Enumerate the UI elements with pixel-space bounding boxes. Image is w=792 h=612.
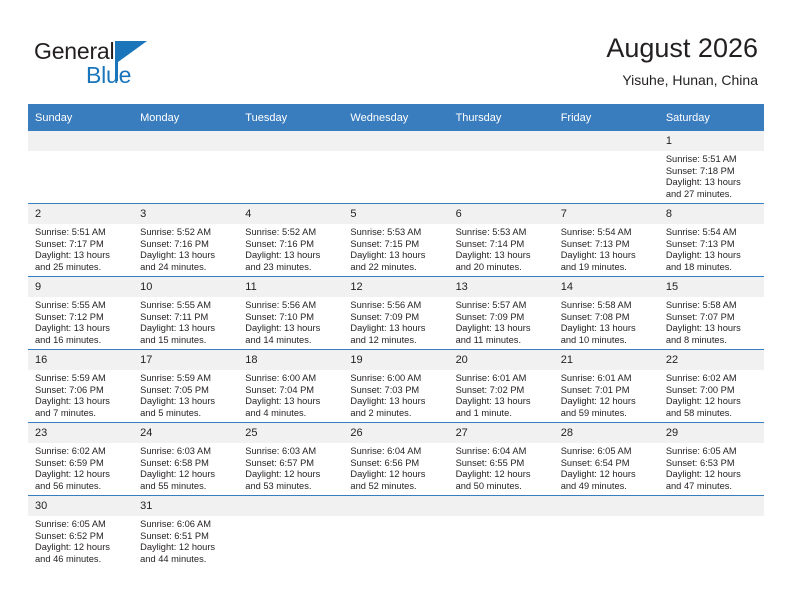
day-number xyxy=(554,131,659,151)
day-details: Sunrise: 5:58 AMSunset: 7:07 PMDaylight:… xyxy=(659,297,764,346)
day-cell[interactable] xyxy=(449,496,554,569)
daylight-duration-line1: Daylight: 13 hours xyxy=(666,250,759,262)
day-details: Sunrise: 5:54 AMSunset: 7:13 PMDaylight:… xyxy=(554,224,659,273)
sunset-time: Sunset: 7:09 PM xyxy=(350,312,443,324)
day-details xyxy=(554,151,659,154)
day-details: Sunrise: 5:52 AMSunset: 7:16 PMDaylight:… xyxy=(133,224,238,273)
daylight-duration-line2: and 15 minutes. xyxy=(140,335,233,347)
day-number xyxy=(238,131,343,151)
daylight-duration-line1: Daylight: 12 hours xyxy=(561,469,654,481)
day-number xyxy=(449,496,554,516)
daylight-duration-line1: Daylight: 13 hours xyxy=(456,396,549,408)
page-subtitle-location: Yisuhe, Hunan, China xyxy=(606,70,758,90)
day-cell[interactable]: 20Sunrise: 6:01 AMSunset: 7:02 PMDayligh… xyxy=(449,350,554,423)
daylight-duration-line2: and 19 minutes. xyxy=(561,262,654,274)
day-details: Sunrise: 6:00 AMSunset: 7:03 PMDaylight:… xyxy=(343,370,448,419)
sunrise-time: Sunrise: 6:00 AM xyxy=(245,373,338,385)
sunset-time: Sunset: 6:58 PM xyxy=(140,458,233,470)
day-details xyxy=(449,516,554,519)
sunset-time: Sunset: 7:16 PM xyxy=(245,239,338,251)
day-details xyxy=(449,151,554,154)
sunset-time: Sunset: 7:13 PM xyxy=(561,239,654,251)
daylight-duration-line1: Daylight: 13 hours xyxy=(140,250,233,262)
day-number: 10 xyxy=(133,277,238,297)
calendar-week-row: 16Sunrise: 5:59 AMSunset: 7:06 PMDayligh… xyxy=(28,350,764,423)
sunrise-time: Sunrise: 6:01 AM xyxy=(456,373,549,385)
day-number xyxy=(659,496,764,516)
day-cell[interactable] xyxy=(343,131,448,204)
day-number: 29 xyxy=(659,423,764,443)
day-details xyxy=(554,516,659,519)
day-number: 7 xyxy=(554,204,659,224)
day-number: 4 xyxy=(238,204,343,224)
day-number: 27 xyxy=(449,423,554,443)
daylight-duration-line1: Daylight: 13 hours xyxy=(35,396,128,408)
daylight-duration-line2: and 10 minutes. xyxy=(561,335,654,347)
day-number: 14 xyxy=(554,277,659,297)
day-details: Sunrise: 5:53 AMSunset: 7:15 PMDaylight:… xyxy=(343,224,448,273)
sunset-time: Sunset: 7:02 PM xyxy=(456,385,549,397)
day-number: 28 xyxy=(554,423,659,443)
sunrise-time: Sunrise: 5:58 AM xyxy=(561,300,654,312)
sunset-time: Sunset: 6:57 PM xyxy=(245,458,338,470)
sunset-time: Sunset: 7:11 PM xyxy=(140,312,233,324)
day-details: Sunrise: 5:56 AMSunset: 7:10 PMDaylight:… xyxy=(238,297,343,346)
daylight-duration-line1: Daylight: 12 hours xyxy=(35,542,128,554)
day-details: Sunrise: 6:04 AMSunset: 6:56 PMDaylight:… xyxy=(343,443,448,492)
day-cell[interactable]: 19Sunrise: 6:00 AMSunset: 7:03 PMDayligh… xyxy=(343,350,448,423)
sunset-time: Sunset: 6:52 PM xyxy=(35,531,128,543)
day-number: 23 xyxy=(28,423,133,443)
daylight-duration-line2: and 50 minutes. xyxy=(456,481,549,493)
sunset-time: Sunset: 7:08 PM xyxy=(561,312,654,324)
sunrise-time: Sunrise: 5:51 AM xyxy=(666,154,759,166)
day-number: 3 xyxy=(133,204,238,224)
calendar-week-row: 23Sunrise: 6:02 AMSunset: 6:59 PMDayligh… xyxy=(28,423,764,496)
daylight-duration-line2: and 14 minutes. xyxy=(245,335,338,347)
day-cell[interactable]: 14Sunrise: 5:58 AMSunset: 7:08 PMDayligh… xyxy=(554,277,659,350)
daylight-duration-line1: Daylight: 13 hours xyxy=(245,396,338,408)
sunset-time: Sunset: 7:07 PM xyxy=(666,312,759,324)
day-cell[interactable] xyxy=(554,496,659,569)
day-number xyxy=(238,496,343,516)
sunrise-time: Sunrise: 5:52 AM xyxy=(140,227,233,239)
day-number xyxy=(343,496,448,516)
day-cell[interactable]: 21Sunrise: 6:01 AMSunset: 7:01 PMDayligh… xyxy=(554,350,659,423)
sunrise-time: Sunrise: 6:03 AM xyxy=(245,446,338,458)
sunset-time: Sunset: 7:06 PM xyxy=(35,385,128,397)
daylight-duration-line2: and 20 minutes. xyxy=(456,262,549,274)
daylight-duration-line1: Daylight: 13 hours xyxy=(350,396,443,408)
daylight-duration-line2: and 11 minutes. xyxy=(456,335,549,347)
day-cell[interactable]: 27Sunrise: 6:04 AMSunset: 6:55 PMDayligh… xyxy=(449,423,554,496)
sunrise-time: Sunrise: 5:53 AM xyxy=(350,227,443,239)
day-cell[interactable] xyxy=(449,131,554,204)
day-details: Sunrise: 5:53 AMSunset: 7:14 PMDaylight:… xyxy=(449,224,554,273)
day-cell[interactable]: 12Sunrise: 5:56 AMSunset: 7:09 PMDayligh… xyxy=(343,277,448,350)
day-number: 1 xyxy=(659,131,764,151)
day-details: Sunrise: 6:03 AMSunset: 6:58 PMDaylight:… xyxy=(133,443,238,492)
day-cell[interactable] xyxy=(554,131,659,204)
logo-triangle-icon xyxy=(118,41,147,62)
general-blue-logo[interactable]: General Blue xyxy=(34,38,224,92)
day-cell[interactable]: 29Sunrise: 6:05 AMSunset: 6:53 PMDayligh… xyxy=(659,423,764,496)
sunset-time: Sunset: 7:03 PM xyxy=(350,385,443,397)
day-cell[interactable]: 17Sunrise: 5:59 AMSunset: 7:05 PMDayligh… xyxy=(133,350,238,423)
day-details: Sunrise: 5:56 AMSunset: 7:09 PMDaylight:… xyxy=(343,297,448,346)
daylight-duration-line2: and 56 minutes. xyxy=(35,481,128,493)
day-number: 8 xyxy=(659,204,764,224)
weekday-header-tuesday: Tuesday xyxy=(238,104,343,131)
calendar-week-row: 1Sunrise: 5:51 AMSunset: 7:18 PMDaylight… xyxy=(28,131,764,204)
calendar-week-row: 30Sunrise: 6:05 AMSunset: 6:52 PMDayligh… xyxy=(28,496,764,569)
day-details: Sunrise: 5:59 AMSunset: 7:06 PMDaylight:… xyxy=(28,370,133,419)
day-cell[interactable]: 4Sunrise: 5:52 AMSunset: 7:16 PMDaylight… xyxy=(238,204,343,277)
day-details: Sunrise: 6:05 AMSunset: 6:52 PMDaylight:… xyxy=(28,516,133,565)
title-block: August 2026 Yisuhe, Hunan, China xyxy=(606,32,758,90)
sunset-time: Sunset: 7:09 PM xyxy=(456,312,549,324)
day-cell[interactable]: 16Sunrise: 5:59 AMSunset: 7:06 PMDayligh… xyxy=(28,350,133,423)
day-details xyxy=(238,151,343,154)
day-cell[interactable]: 2Sunrise: 5:51 AMSunset: 7:17 PMDaylight… xyxy=(28,204,133,277)
daylight-duration-line2: and 23 minutes. xyxy=(245,262,338,274)
day-number: 19 xyxy=(343,350,448,370)
day-details: Sunrise: 6:04 AMSunset: 6:55 PMDaylight:… xyxy=(449,443,554,492)
day-cell[interactable]: 18Sunrise: 6:00 AMSunset: 7:04 PMDayligh… xyxy=(238,350,343,423)
day-cell[interactable] xyxy=(28,131,133,204)
day-details: Sunrise: 5:58 AMSunset: 7:08 PMDaylight:… xyxy=(554,297,659,346)
daylight-duration-line1: Daylight: 13 hours xyxy=(456,250,549,262)
day-details: Sunrise: 6:05 AMSunset: 6:54 PMDaylight:… xyxy=(554,443,659,492)
daylight-duration-line1: Daylight: 12 hours xyxy=(561,396,654,408)
daylight-duration-line1: Daylight: 13 hours xyxy=(350,323,443,335)
day-cell[interactable] xyxy=(133,131,238,204)
day-cell[interactable] xyxy=(238,496,343,569)
sunrise-time: Sunrise: 5:55 AM xyxy=(35,300,128,312)
page-header: General Blue August 2026 Yisuhe, Hunan, … xyxy=(0,0,792,100)
day-number: 30 xyxy=(28,496,133,516)
sunset-time: Sunset: 7:01 PM xyxy=(561,385,654,397)
day-cell[interactable]: 3Sunrise: 5:52 AMSunset: 7:16 PMDaylight… xyxy=(133,204,238,277)
sunset-time: Sunset: 7:12 PM xyxy=(35,312,128,324)
day-cell[interactable]: 26Sunrise: 6:04 AMSunset: 6:56 PMDayligh… xyxy=(343,423,448,496)
day-cell[interactable]: 24Sunrise: 6:03 AMSunset: 6:58 PMDayligh… xyxy=(133,423,238,496)
day-cell[interactable]: 28Sunrise: 6:05 AMSunset: 6:54 PMDayligh… xyxy=(554,423,659,496)
sunset-time: Sunset: 6:55 PM xyxy=(456,458,549,470)
sunrise-time: Sunrise: 5:51 AM xyxy=(35,227,128,239)
sunrise-time: Sunrise: 5:59 AM xyxy=(35,373,128,385)
weekday-header-saturday: Saturday xyxy=(659,104,764,131)
sunrise-time: Sunrise: 5:52 AM xyxy=(245,227,338,239)
sunrise-time: Sunrise: 5:54 AM xyxy=(561,227,654,239)
day-number: 5 xyxy=(343,204,448,224)
sunrise-time: Sunrise: 6:05 AM xyxy=(35,519,128,531)
sunset-time: Sunset: 6:53 PM xyxy=(666,458,759,470)
daylight-duration-line1: Daylight: 13 hours xyxy=(245,250,338,262)
day-number xyxy=(28,131,133,151)
sunrise-time: Sunrise: 5:53 AM xyxy=(456,227,549,239)
day-number: 6 xyxy=(449,204,554,224)
day-details xyxy=(238,516,343,519)
sunrise-time: Sunrise: 5:55 AM xyxy=(140,300,233,312)
day-details: Sunrise: 5:54 AMSunset: 7:13 PMDaylight:… xyxy=(659,224,764,273)
sunset-time: Sunset: 6:54 PM xyxy=(561,458,654,470)
day-cell[interactable]: 9Sunrise: 5:55 AMSunset: 7:12 PMDaylight… xyxy=(28,277,133,350)
day-number: 31 xyxy=(133,496,238,516)
day-number: 22 xyxy=(659,350,764,370)
daylight-duration-line2: and 7 minutes. xyxy=(35,408,128,420)
daylight-duration-line1: Daylight: 13 hours xyxy=(666,323,759,335)
day-details: Sunrise: 6:01 AMSunset: 7:02 PMDaylight:… xyxy=(449,370,554,419)
daylight-duration-line2: and 59 minutes. xyxy=(561,408,654,420)
daylight-duration-line2: and 58 minutes. xyxy=(666,408,759,420)
logo-text-general: General xyxy=(34,38,114,64)
daylight-duration-line1: Daylight: 12 hours xyxy=(245,469,338,481)
day-cell[interactable]: 8Sunrise: 5:54 AMSunset: 7:13 PMDaylight… xyxy=(659,204,764,277)
sunrise-time: Sunrise: 6:02 AM xyxy=(666,373,759,385)
calendar-header-row-group: Sunday Monday Tuesday Wednesday Thursday… xyxy=(28,104,764,131)
sunrise-time: Sunrise: 6:00 AM xyxy=(350,373,443,385)
sunset-time: Sunset: 7:00 PM xyxy=(666,385,759,397)
day-details: Sunrise: 5:57 AMSunset: 7:09 PMDaylight:… xyxy=(449,297,554,346)
day-details: Sunrise: 6:05 AMSunset: 6:53 PMDaylight:… xyxy=(659,443,764,492)
sunrise-time: Sunrise: 6:01 AM xyxy=(561,373,654,385)
sunrise-time: Sunrise: 5:56 AM xyxy=(245,300,338,312)
day-number: 2 xyxy=(28,204,133,224)
daylight-duration-line2: and 55 minutes. xyxy=(140,481,233,493)
day-details: Sunrise: 6:00 AMSunset: 7:04 PMDaylight:… xyxy=(238,370,343,419)
day-number: 12 xyxy=(343,277,448,297)
daylight-duration-line2: and 25 minutes. xyxy=(35,262,128,274)
daylight-duration-line2: and 24 minutes. xyxy=(140,262,233,274)
daylight-duration-line2: and 1 minute. xyxy=(456,408,549,420)
day-cell[interactable]: 15Sunrise: 5:58 AMSunset: 7:07 PMDayligh… xyxy=(659,277,764,350)
day-cell[interactable]: 5Sunrise: 5:53 AMSunset: 7:15 PMDaylight… xyxy=(343,204,448,277)
sunset-time: Sunset: 6:56 PM xyxy=(350,458,443,470)
sunrise-time: Sunrise: 6:05 AM xyxy=(666,446,759,458)
daylight-duration-line2: and 47 minutes. xyxy=(666,481,759,493)
daylight-duration-line1: Daylight: 12 hours xyxy=(666,469,759,481)
daylight-duration-line1: Daylight: 13 hours xyxy=(35,250,128,262)
day-details xyxy=(343,516,448,519)
sunset-time: Sunset: 7:13 PM xyxy=(666,239,759,251)
day-details: Sunrise: 6:01 AMSunset: 7:01 PMDaylight:… xyxy=(554,370,659,419)
daylight-duration-line1: Daylight: 12 hours xyxy=(666,396,759,408)
day-cell[interactable]: 22Sunrise: 6:02 AMSunset: 7:00 PMDayligh… xyxy=(659,350,764,423)
weekday-header-sunday: Sunday xyxy=(28,104,133,131)
daylight-duration-line2: and 27 minutes. xyxy=(666,189,759,201)
day-cell[interactable]: 13Sunrise: 5:57 AMSunset: 7:09 PMDayligh… xyxy=(449,277,554,350)
sunrise-time: Sunrise: 6:06 AM xyxy=(140,519,233,531)
daylight-duration-line1: Daylight: 13 hours xyxy=(140,323,233,335)
day-details: Sunrise: 5:55 AMSunset: 7:12 PMDaylight:… xyxy=(28,297,133,346)
day-details: Sunrise: 6:02 AMSunset: 6:59 PMDaylight:… xyxy=(28,443,133,492)
daylight-duration-line1: Daylight: 13 hours xyxy=(245,323,338,335)
daylight-duration-line1: Daylight: 13 hours xyxy=(666,177,759,189)
sunrise-time: Sunrise: 6:05 AM xyxy=(561,446,654,458)
day-cell[interactable]: 10Sunrise: 5:55 AMSunset: 7:11 PMDayligh… xyxy=(133,277,238,350)
sunset-time: Sunset: 7:16 PM xyxy=(140,239,233,251)
day-number: 18 xyxy=(238,350,343,370)
day-number: 11 xyxy=(238,277,343,297)
sunrise-time: Sunrise: 5:54 AM xyxy=(666,227,759,239)
sunrise-time: Sunrise: 6:03 AM xyxy=(140,446,233,458)
weekday-header-row: Sunday Monday Tuesday Wednesday Thursday… xyxy=(28,104,764,131)
day-details: Sunrise: 6:02 AMSunset: 7:00 PMDaylight:… xyxy=(659,370,764,419)
sunrise-time: Sunrise: 6:04 AM xyxy=(456,446,549,458)
daylight-duration-line1: Daylight: 13 hours xyxy=(561,250,654,262)
day-details xyxy=(659,516,764,519)
sunset-time: Sunset: 6:51 PM xyxy=(140,531,233,543)
day-number: 9 xyxy=(28,277,133,297)
day-number xyxy=(554,496,659,516)
day-number: 21 xyxy=(554,350,659,370)
day-details xyxy=(28,151,133,154)
day-cell[interactable]: 31Sunrise: 6:06 AMSunset: 6:51 PMDayligh… xyxy=(133,496,238,569)
day-details xyxy=(343,151,448,154)
calendar-week-row: 2Sunrise: 5:51 AMSunset: 7:17 PMDaylight… xyxy=(28,204,764,277)
daylight-duration-line2: and 12 minutes. xyxy=(350,335,443,347)
daylight-duration-line2: and 44 minutes. xyxy=(140,554,233,566)
sunrise-time: Sunrise: 5:57 AM xyxy=(456,300,549,312)
daylight-duration-line2: and 4 minutes. xyxy=(245,408,338,420)
sunrise-time: Sunrise: 5:58 AM xyxy=(666,300,759,312)
sunset-time: Sunset: 7:18 PM xyxy=(666,166,759,178)
day-number: 24 xyxy=(133,423,238,443)
daylight-duration-line1: Daylight: 12 hours xyxy=(140,469,233,481)
daylight-duration-line1: Daylight: 12 hours xyxy=(35,469,128,481)
day-number xyxy=(133,131,238,151)
day-cell[interactable] xyxy=(659,496,764,569)
daylight-duration-line2: and 46 minutes. xyxy=(35,554,128,566)
day-cell[interactable] xyxy=(238,131,343,204)
page-title: August 2026 xyxy=(606,32,758,64)
day-number: 20 xyxy=(449,350,554,370)
day-number: 25 xyxy=(238,423,343,443)
sunset-time: Sunset: 7:14 PM xyxy=(456,239,549,251)
day-details: Sunrise: 5:52 AMSunset: 7:16 PMDaylight:… xyxy=(238,224,343,273)
calendar-body: 1Sunrise: 5:51 AMSunset: 7:18 PMDaylight… xyxy=(28,131,764,568)
sunset-time: Sunset: 7:15 PM xyxy=(350,239,443,251)
daylight-duration-line2: and 53 minutes. xyxy=(245,481,338,493)
day-cell[interactable]: 7Sunrise: 5:54 AMSunset: 7:13 PMDaylight… xyxy=(554,204,659,277)
day-cell[interactable]: 25Sunrise: 6:03 AMSunset: 6:57 PMDayligh… xyxy=(238,423,343,496)
daylight-duration-line1: Daylight: 13 hours xyxy=(140,396,233,408)
calendar-week-row: 9Sunrise: 5:55 AMSunset: 7:12 PMDaylight… xyxy=(28,277,764,350)
daylight-duration-line2: and 8 minutes. xyxy=(666,335,759,347)
day-details: Sunrise: 5:51 AMSunset: 7:18 PMDaylight:… xyxy=(659,151,764,200)
day-details: Sunrise: 5:55 AMSunset: 7:11 PMDaylight:… xyxy=(133,297,238,346)
day-number: 15 xyxy=(659,277,764,297)
weekday-header-monday: Monday xyxy=(133,104,238,131)
daylight-duration-line1: Daylight: 13 hours xyxy=(35,323,128,335)
calendar-page: General Blue August 2026 Yisuhe, Hunan, … xyxy=(0,0,792,612)
sunrise-time: Sunrise: 6:04 AM xyxy=(350,446,443,458)
day-details: Sunrise: 6:03 AMSunset: 6:57 PMDaylight:… xyxy=(238,443,343,492)
daylight-duration-line2: and 49 minutes. xyxy=(561,481,654,493)
daylight-duration-line2: and 16 minutes. xyxy=(35,335,128,347)
daylight-duration-line1: Daylight: 13 hours xyxy=(350,250,443,262)
daylight-duration-line1: Daylight: 12 hours xyxy=(350,469,443,481)
daylight-duration-line2: and 2 minutes. xyxy=(350,408,443,420)
day-number xyxy=(449,131,554,151)
sunrise-sunset-calendar-table: Sunday Monday Tuesday Wednesday Thursday… xyxy=(28,104,764,568)
day-details: Sunrise: 5:51 AMSunset: 7:17 PMDaylight:… xyxy=(28,224,133,273)
daylight-duration-line1: Daylight: 13 hours xyxy=(561,323,654,335)
day-number: 26 xyxy=(343,423,448,443)
weekday-header-friday: Friday xyxy=(554,104,659,131)
daylight-duration-line2: and 22 minutes. xyxy=(350,262,443,274)
day-cell[interactable]: 11Sunrise: 5:56 AMSunset: 7:10 PMDayligh… xyxy=(238,277,343,350)
sunset-time: Sunset: 7:05 PM xyxy=(140,385,233,397)
day-cell[interactable]: 23Sunrise: 6:02 AMSunset: 6:59 PMDayligh… xyxy=(28,423,133,496)
logo-text-blue: Blue xyxy=(86,62,131,88)
daylight-duration-line2: and 18 minutes. xyxy=(666,262,759,274)
day-number: 13 xyxy=(449,277,554,297)
sunset-time: Sunset: 7:04 PM xyxy=(245,385,338,397)
daylight-duration-line1: Daylight: 12 hours xyxy=(140,542,233,554)
sunset-time: Sunset: 6:59 PM xyxy=(35,458,128,470)
sunset-time: Sunset: 7:17 PM xyxy=(35,239,128,251)
weekday-header-wednesday: Wednesday xyxy=(343,104,448,131)
day-details: Sunrise: 5:59 AMSunset: 7:05 PMDaylight:… xyxy=(133,370,238,419)
daylight-duration-line1: Daylight: 12 hours xyxy=(456,469,549,481)
day-cell[interactable]: 6Sunrise: 5:53 AMSunset: 7:14 PMDaylight… xyxy=(449,204,554,277)
weekday-header-thursday: Thursday xyxy=(449,104,554,131)
day-number: 16 xyxy=(28,350,133,370)
day-number xyxy=(343,131,448,151)
day-number: 17 xyxy=(133,350,238,370)
day-details xyxy=(133,151,238,154)
day-details: Sunrise: 6:06 AMSunset: 6:51 PMDaylight:… xyxy=(133,516,238,565)
sunrise-time: Sunrise: 6:02 AM xyxy=(35,446,128,458)
day-cell[interactable]: 1Sunrise: 5:51 AMSunset: 7:18 PMDaylight… xyxy=(659,131,764,204)
daylight-duration-line2: and 5 minutes. xyxy=(140,408,233,420)
sunrise-time: Sunrise: 5:59 AM xyxy=(140,373,233,385)
sunrise-time: Sunrise: 5:56 AM xyxy=(350,300,443,312)
daylight-duration-line1: Daylight: 13 hours xyxy=(456,323,549,335)
daylight-duration-line2: and 52 minutes. xyxy=(350,481,443,493)
sunset-time: Sunset: 7:10 PM xyxy=(245,312,338,324)
day-cell[interactable] xyxy=(343,496,448,569)
day-cell[interactable]: 30Sunrise: 6:05 AMSunset: 6:52 PMDayligh… xyxy=(28,496,133,569)
